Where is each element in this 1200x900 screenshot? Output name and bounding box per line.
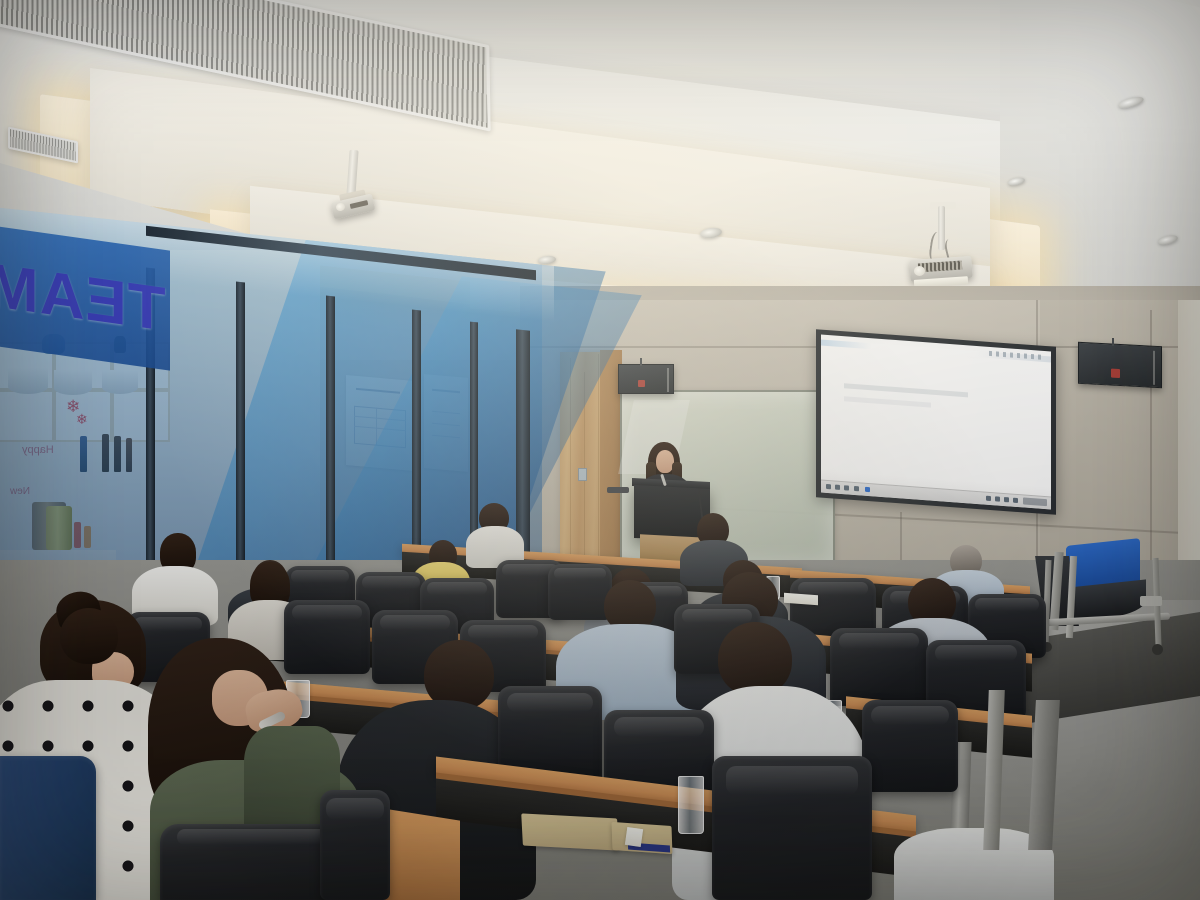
wall-speaker-right — [1078, 342, 1162, 388]
chair[interactable] — [548, 564, 612, 620]
chair[interactable] — [830, 628, 928, 706]
paper-handout — [625, 827, 643, 847]
chair[interactable] — [320, 790, 390, 900]
chair[interactable] — [862, 700, 958, 792]
chair[interactable] — [712, 756, 872, 900]
water-glass — [678, 776, 704, 834]
wall-speaker-left — [618, 364, 674, 394]
podium-shelf-item — [607, 487, 629, 493]
chair[interactable] — [284, 600, 370, 674]
screen-text-line — [844, 384, 968, 398]
conference-room-photo: ❄ ❄ Happy New — [0, 0, 1200, 900]
document-folder[interactable] — [521, 813, 619, 850]
speaker-mount — [640, 358, 642, 366]
chair[interactable] — [0, 756, 96, 900]
speaker-mount — [1112, 338, 1114, 346]
wall-switch[interactable] — [578, 468, 587, 481]
screen-titlebar — [821, 340, 1051, 363]
screen-content — [821, 335, 1051, 510]
projection-screen[interactable] — [816, 329, 1056, 515]
screen-text-line — [844, 396, 931, 407]
